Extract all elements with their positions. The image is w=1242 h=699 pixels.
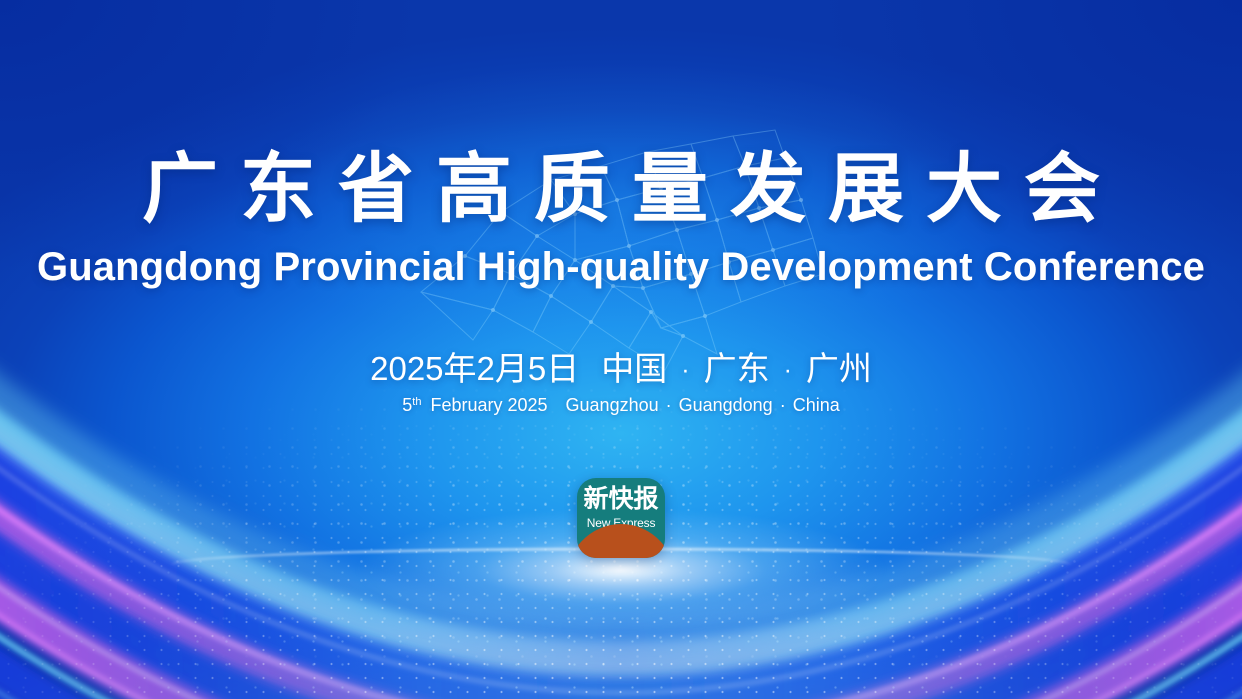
separator-dot-icon: · <box>667 356 703 384</box>
logo-name-chinese: 新快报 <box>577 487 665 512</box>
date-rest-english: February 2025 <box>430 395 547 415</box>
new-express-logo[interactable]: 新快报 New Express <box>577 478 665 558</box>
city-english: Guangzhou <box>566 395 659 415</box>
separator-dot-icon: · <box>770 356 806 384</box>
date-chinese: 2025年2月5日 <box>370 350 579 387</box>
separator-dot-icon: · <box>659 395 679 415</box>
province-english: Guangdong <box>679 395 773 415</box>
country-english: China <box>793 395 840 415</box>
province-chinese: 广东 <box>704 350 770 387</box>
date-location-chinese: 2025年2月5日中国·广东·广州 <box>0 352 1242 385</box>
country-chinese: 中国 <box>601 350 667 387</box>
conference-title-chinese: 广东省高质量发展大会 <box>0 152 1242 228</box>
city-chinese: 广州 <box>806 350 872 387</box>
poster-content: 广东省高质量发展大会 Guangdong Provincial High-qua… <box>0 0 1242 699</box>
conference-poster: 广东省高质量发展大会 Guangdong Provincial High-qua… <box>0 0 1242 699</box>
separator-dot-icon: · <box>773 395 793 415</box>
conference-title-english: Guangdong Provincial High-quality Develo… <box>0 244 1242 290</box>
date-day-english: 5 <box>402 395 412 415</box>
date-location-english: 5thFebruary 2025Guangzhou·Guangdong·Chin… <box>0 396 1242 414</box>
date-ordinal-suffix: th <box>412 396 421 408</box>
